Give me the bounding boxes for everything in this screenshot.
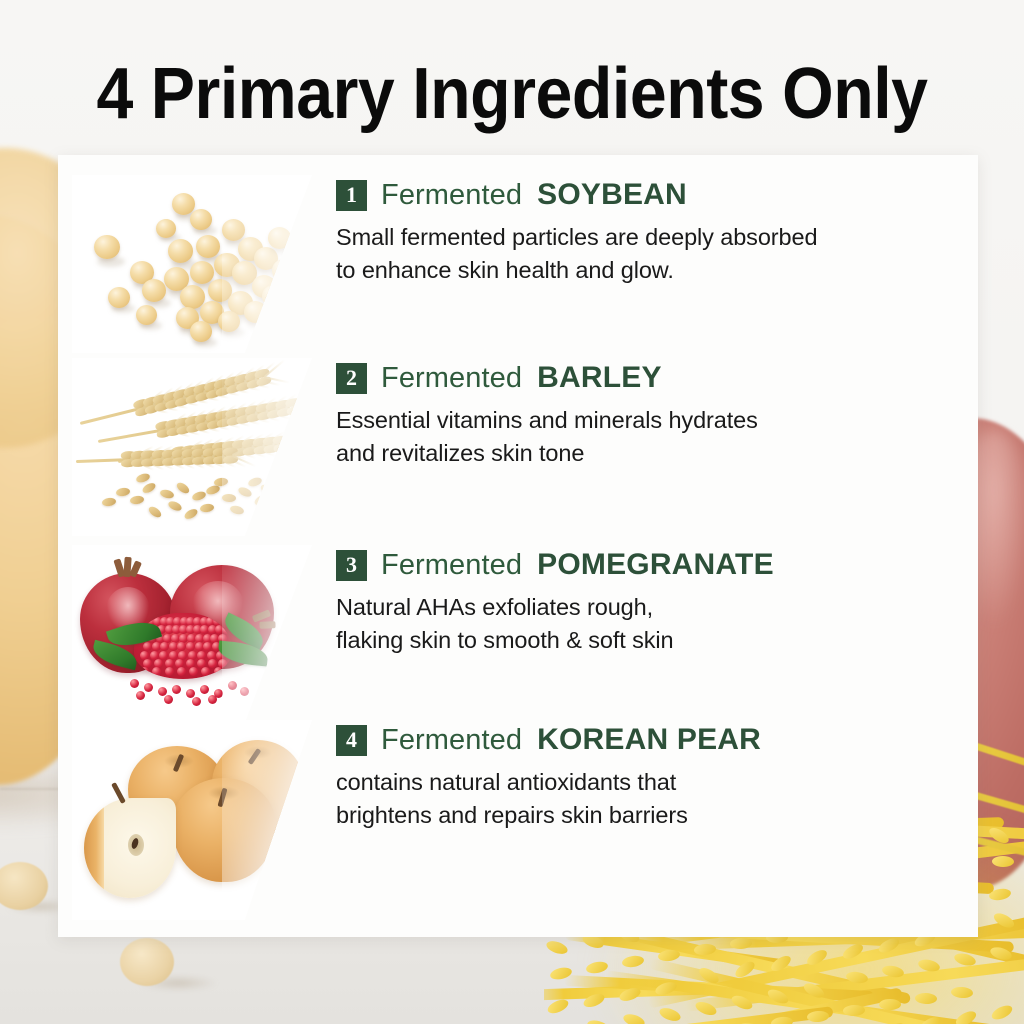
- soybeans-photo: [72, 175, 312, 353]
- pomegranate-aril: [152, 667, 161, 676]
- ingredient-name: SOYBEAN: [535, 178, 689, 212]
- background-wheat-grain: [586, 1018, 610, 1024]
- barley-photo: [72, 358, 312, 536]
- background-wheat-grain: [730, 937, 753, 949]
- barley-kernel: [272, 435, 288, 445]
- pomegranate-aril: [189, 667, 198, 676]
- barley-grain: [130, 495, 145, 505]
- ingredient-row-korean-pear: 4 Fermented KOREAN PEAR contains natural…: [58, 720, 978, 920]
- barley-grain: [159, 488, 175, 499]
- ingredient-number-badge: 1: [336, 180, 367, 211]
- korean-pear-half: [84, 798, 176, 898]
- soybean: [262, 285, 285, 307]
- barley-grain: [259, 483, 275, 498]
- product-ingredients-infographic: 4 Primary Ingredients Only 1 Fermented S…: [0, 0, 1024, 1024]
- soybean: [272, 305, 294, 326]
- background-soybean-small-2: [120, 938, 174, 986]
- ingredient-heading: 4 Fermented KOREAN PEAR: [336, 720, 978, 760]
- pomegranate-aril: [208, 659, 217, 668]
- pomegranate-loose-seed: [130, 679, 139, 688]
- soybean: [190, 321, 212, 342]
- pomegranate-loose-seed: [208, 695, 217, 704]
- background-wheat-grain: [992, 856, 1014, 867]
- barley-grain: [222, 494, 236, 503]
- background-wheat-grain: [990, 1003, 1015, 1023]
- barley-awn: [292, 428, 312, 443]
- soybean: [244, 301, 267, 323]
- ingredient-prefix: Fermented: [381, 362, 522, 395]
- pomegranate-loose-seed: [200, 685, 209, 694]
- soybean: [142, 279, 166, 302]
- barley-stalk: [76, 449, 226, 468]
- soybean: [108, 287, 130, 308]
- barley-grain: [229, 504, 245, 515]
- barley-grain: [278, 468, 292, 477]
- pomegranate-loose-seed: [228, 681, 237, 690]
- barley-grain: [102, 497, 117, 507]
- barley-grain: [253, 493, 269, 507]
- barley-grain: [183, 507, 199, 521]
- pomegranate-loose-seed: [172, 685, 181, 694]
- barley-grain: [267, 497, 283, 511]
- pomegranate-aril: [140, 667, 149, 676]
- soybean: [156, 219, 176, 238]
- barley-grain: [237, 485, 253, 498]
- korean-pear-half-skin: [84, 798, 104, 898]
- ingredient-description: contains natural antioxidants that brigh…: [336, 766, 978, 832]
- ingredient-number-badge: 2: [336, 363, 367, 394]
- soybean: [284, 241, 306, 262]
- barley-grain: [135, 472, 151, 484]
- ingredient-row-barley: 2 Fermented BARLEY Essential vitamins an…: [58, 358, 978, 536]
- ingredient-prefix: Fermented: [381, 724, 522, 757]
- barley-grain: [267, 473, 283, 487]
- pomegranate-aril: [203, 642, 212, 651]
- background-wheat-grain: [807, 1010, 830, 1023]
- soybean-shadow: [287, 258, 311, 267]
- soybean-shadow: [275, 322, 299, 331]
- pomegranate-loose-seed: [144, 683, 153, 692]
- korean-pear-photo: [72, 720, 312, 920]
- ingredient-heading: 1 Fermented SOYBEAN: [336, 175, 978, 215]
- ingredient-number-badge: 3: [336, 550, 367, 581]
- pomegranate-aril: [160, 642, 169, 651]
- pomegranate-aril: [186, 642, 195, 651]
- background-wheat-grain: [545, 939, 569, 957]
- page-title: 4 Primary Ingredients Only: [41, 58, 983, 130]
- barley-awn: [282, 429, 305, 444]
- pomegranate-photo: [72, 545, 312, 723]
- ingredient-heading: 3 Fermented POMEGRANATE: [336, 545, 978, 585]
- ingredient-heading: 2 Fermented BARLEY: [336, 358, 978, 398]
- barley-kernel: [283, 442, 299, 452]
- barley-awn: [302, 427, 312, 442]
- ingredient-prefix: Fermented: [381, 549, 522, 582]
- ingredient-description: Small fermented particles are deeply abs…: [336, 221, 978, 287]
- background-wheat-grain: [585, 960, 609, 975]
- background-wheat-grain: [879, 999, 901, 1010]
- ingredient-description: Essential vitamins and minerals hydrates…: [336, 404, 978, 470]
- barley-grain: [281, 481, 297, 495]
- ingredients-card: 1 Fermented SOYBEAN Small fermented part…: [58, 155, 978, 937]
- ingredient-row-soybean: 1 Fermented SOYBEAN Small fermented part…: [58, 175, 978, 353]
- barley-kernel: [282, 434, 298, 444]
- pomegranate-crown: [259, 621, 275, 629]
- pomegranate-aril: [165, 667, 174, 676]
- barley-kernel: [293, 433, 309, 443]
- soybean: [136, 305, 157, 325]
- ingredient-name: BARLEY: [535, 361, 664, 395]
- pomegranate-loose-seed: [240, 687, 249, 696]
- ingredient-prefix: Fermented: [381, 179, 522, 212]
- barley-awn: [292, 442, 312, 452]
- background-wheat-grain: [658, 1006, 682, 1024]
- pomegranate-aril: [214, 667, 223, 676]
- pomegranate-loose-seed: [164, 695, 173, 704]
- pomegranate-aril: [201, 667, 210, 676]
- ingredient-row-pomegranate: 3 Fermented POMEGRANATE Natural AHAs exf…: [58, 545, 978, 723]
- soybean-shadow: [265, 303, 290, 313]
- soybean: [190, 261, 214, 284]
- soybean: [272, 259, 296, 282]
- barley-awn: [282, 443, 307, 453]
- soybean: [218, 311, 240, 332]
- pomegranate-aril: [143, 642, 152, 651]
- soybean: [222, 219, 245, 241]
- pomegranate-aril: [177, 667, 186, 676]
- barley-grain: [116, 487, 131, 497]
- barley-grain: [175, 481, 191, 496]
- barley-kernel: [293, 441, 309, 451]
- ingredient-name: KOREAN PEAR: [535, 723, 763, 757]
- ingredient-description: Natural AHAs exfoliates rough, flaking s…: [336, 591, 978, 657]
- pomegranate-loose-seed: [136, 691, 145, 700]
- soybean: [168, 239, 193, 263]
- ingredient-name: POMEGRANATE: [535, 548, 776, 582]
- pomegranate-loose-seed: [192, 697, 201, 706]
- barley-grain: [167, 499, 183, 512]
- soybean-shadow: [275, 278, 301, 288]
- barley-awn: [295, 390, 312, 407]
- barley-grain: [141, 481, 157, 495]
- pomegranate-aril: [159, 651, 168, 660]
- soybean: [196, 235, 220, 258]
- background-wheat-grain: [621, 954, 644, 968]
- barley-grain: [200, 503, 215, 513]
- background-wheat-grain: [915, 993, 937, 1005]
- barley-grain: [214, 477, 229, 487]
- barley-grain: [191, 490, 207, 502]
- soybean: [172, 193, 195, 215]
- barley-awn: [295, 406, 312, 415]
- barley-awn: [302, 441, 312, 451]
- soybean: [190, 209, 212, 230]
- background-wheat-grain: [951, 986, 974, 999]
- background-wheat-grain: [622, 1012, 646, 1024]
- barley-kernel: [273, 443, 289, 453]
- ingredient-number-badge: 4: [336, 725, 367, 756]
- barley-grain: [147, 505, 163, 520]
- soybean: [268, 227, 291, 249]
